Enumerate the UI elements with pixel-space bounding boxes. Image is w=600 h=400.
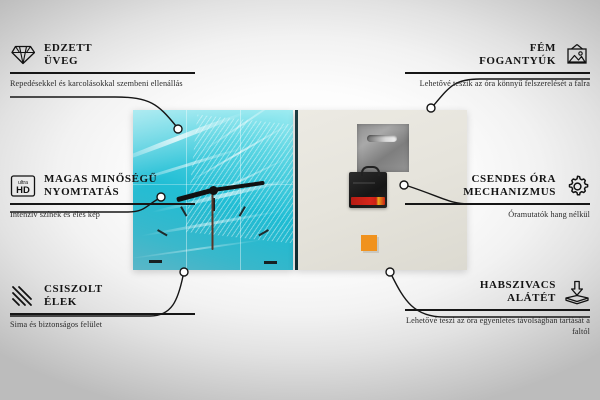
- product-infographic: EDZETT ÜVEG Repedésekkel és karcolásokka…: [0, 0, 600, 400]
- clock-edge: [295, 110, 298, 270]
- callout-subtitle: Lehetővé teszik az óra könnyű felszerelé…: [405, 78, 590, 89]
- clock-tick: [264, 261, 277, 264]
- callout-title-line1: HABSZIVACS: [480, 279, 556, 292]
- hanging-picture-icon: [564, 42, 590, 68]
- feature-callout-tempered-glass: EDZETT ÜVEG Repedésekkel és karcolásokka…: [10, 42, 195, 89]
- clock-hand-cap: [209, 186, 218, 195]
- callout-header: HABSZIVACS ALÁTÉT: [405, 279, 590, 305]
- callout-rule: [10, 72, 195, 74]
- svg-text:HD: HD: [16, 185, 30, 196]
- press-down-pad-icon: [564, 279, 590, 305]
- callout-title-line1: MAGAS MINŐSÉGŰ: [44, 173, 157, 186]
- callout-header: EDZETT ÜVEG: [10, 42, 195, 68]
- clock-tick: [157, 229, 168, 236]
- clock-minute-hand: [213, 181, 265, 192]
- glass-panel-seam: [240, 110, 241, 270]
- callout-title-line2: FOGANTYÚK: [479, 55, 556, 68]
- callout-title: MAGAS MINŐSÉGŰ NYOMTATÁS: [44, 173, 157, 199]
- feather-streak: [133, 238, 267, 260]
- callout-title-line1: FÉM: [479, 42, 556, 55]
- callout-title: CSISZOLT ÉLEK: [44, 283, 103, 309]
- feature-callout-polished-edges: CSISZOLT ÉLEK Sima és biztonságos felüle…: [10, 283, 195, 330]
- callout-rule: [10, 203, 195, 205]
- feature-callout-foam-pad: HABSZIVACS ALÁTÉT Lehetővé teszi az óra …: [405, 279, 590, 337]
- callout-rule: [405, 309, 590, 311]
- callout-header: FÉM FOGANTYÚK: [405, 42, 590, 68]
- callout-subtitle: Intenzív színek és éles kép: [10, 209, 195, 220]
- callout-subtitle: Sima és biztonságos felület: [10, 319, 195, 330]
- hanger-slot: [367, 135, 397, 142]
- feature-callout-silent-mechanism: CSENDES ÓRA MECHANIZMUS Óramutatók hang …: [405, 173, 590, 220]
- callout-title-line2: NYOMTATÁS: [44, 186, 157, 199]
- callout-rule: [405, 203, 590, 205]
- callout-subtitle: Lehetővé teszi az óra egyenletes távolsá…: [405, 315, 590, 337]
- callout-title-line2: MECHANIZMUS: [463, 186, 556, 199]
- callout-title-line2: ÉLEK: [44, 296, 103, 309]
- callout-header: CSENDES ÓRA MECHANIZMUS: [405, 173, 590, 199]
- callout-title-line2: ALÁTÉT: [480, 292, 556, 305]
- callout-title: HABSZIVACS ALÁTÉT: [480, 279, 556, 305]
- feather-streak: [183, 120, 293, 186]
- callout-rule: [405, 72, 590, 74]
- callout-title: EDZETT ÜVEG: [44, 42, 92, 68]
- callout-title-line2: ÜVEG: [44, 55, 92, 68]
- callout-rule: [10, 313, 195, 315]
- metal-hanger-plate: [357, 124, 409, 172]
- mechanism-battery: [351, 197, 385, 205]
- clock-tick: [149, 261, 162, 264]
- callout-title-line1: CSENDES ÓRA: [463, 173, 556, 186]
- mechanism-hook: [361, 166, 380, 176]
- callout-title-line1: EDZETT: [44, 42, 92, 55]
- feature-callout-metal-handles: FÉM FOGANTYÚK Lehetővé teszik az óra kön…: [405, 42, 590, 89]
- gear-icon: [564, 173, 590, 199]
- feather-streak: [133, 110, 247, 167]
- feather-plume: [185, 114, 293, 243]
- feature-callout-high-quality-print: ultra HD MAGAS MINŐSÉGŰ NYOMTATÁS Intenz…: [10, 173, 195, 220]
- callout-title: CSENDES ÓRA MECHANIZMUS: [463, 173, 556, 199]
- callout-title: FÉM FOGANTYÚK: [479, 42, 556, 68]
- diamond-icon: [10, 42, 36, 68]
- callout-header: ultra HD MAGAS MINŐSÉGŰ NYOMTATÁS: [10, 173, 195, 199]
- feather-streak: [196, 110, 290, 156]
- foam-pad-sticker: [361, 235, 377, 251]
- callout-title-line1: CSISZOLT: [44, 283, 103, 296]
- diagonal-lines-icon: [10, 283, 36, 309]
- callout-subtitle: Óramutatók hang nélkül: [405, 209, 590, 220]
- ultra-hd-icon: ultra HD: [10, 173, 36, 199]
- callout-subtitle: Repedésekkel és karcolásokkal szembeni e…: [10, 78, 195, 89]
- clock-mechanism: [349, 172, 387, 208]
- callout-header: CSISZOLT ÉLEK: [10, 283, 195, 309]
- clock-tick: [258, 229, 269, 236]
- mechanism-detail: [353, 182, 375, 184]
